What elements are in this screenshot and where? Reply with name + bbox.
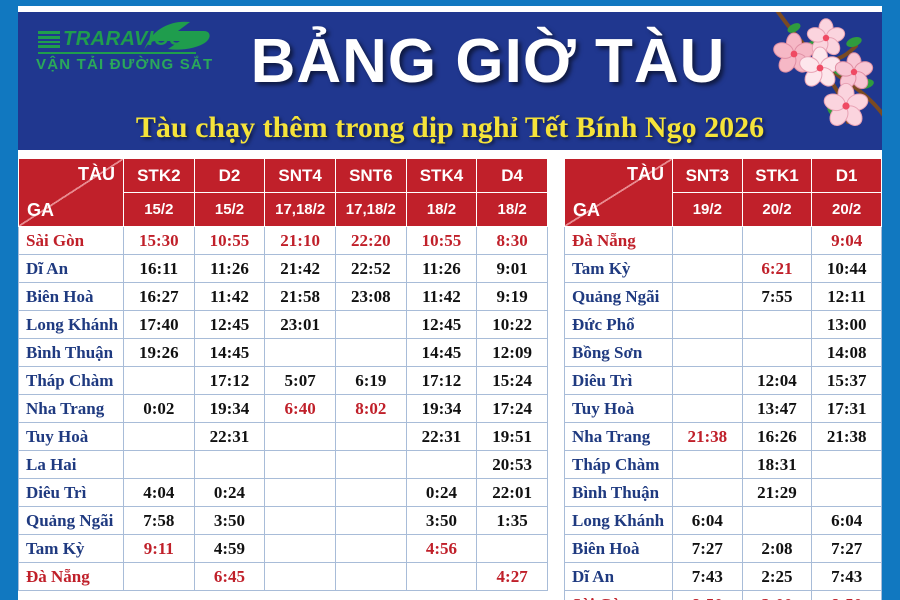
departure-time-cell — [742, 507, 812, 535]
departure-time-cell: 19:26 — [124, 339, 195, 367]
departure-time-cell — [673, 339, 743, 367]
departure-time-cell — [742, 311, 812, 339]
corner-label-train: TÀU — [627, 164, 664, 185]
departure-time-cell — [265, 423, 336, 451]
right-train-date-snt3: 19/2 — [673, 193, 743, 227]
table-row: Biên Hoà7:272:087:27 — [565, 535, 882, 563]
station-name-cell: Quảng Ngãi — [565, 283, 673, 311]
departure-time-cell: 7:58 — [124, 507, 195, 535]
departure-time-cell — [265, 479, 336, 507]
station-name-cell: Tuy Hoà — [19, 423, 124, 451]
corner-label-station: GA — [573, 200, 600, 221]
table-row: Bình Thuận19:2614:4514:4512:09 — [19, 339, 548, 367]
departure-time-cell: 0:24 — [194, 479, 265, 507]
table-row: Tháp Chàm17:125:076:1917:1215:24 — [19, 367, 548, 395]
departure-time-cell: 22:52 — [335, 255, 406, 283]
station-name-cell: Đà Nẵng — [565, 227, 673, 255]
logo-underline — [38, 52, 196, 54]
departure-time-cell — [124, 451, 195, 479]
departure-time-cell: 21:10 — [265, 227, 336, 255]
departure-time-cell: 4:59 — [194, 535, 265, 563]
table-row: Đà Nẵng9:04 — [565, 227, 882, 255]
departure-time-cell: 16:26 — [742, 423, 812, 451]
table-row: Dĩ An7:432:257:43 — [565, 563, 882, 591]
departure-time-cell — [335, 311, 406, 339]
departure-time-cell — [265, 507, 336, 535]
station-name-cell: Dĩ An — [19, 255, 124, 283]
station-name-cell: Sài Gòn — [19, 227, 124, 255]
left-train-code-stk4: STK4 — [406, 159, 477, 193]
right-header-row-trains: TÀU GA SNT3STK1D1 — [565, 159, 882, 193]
departure-time-cell: 2:25 — [742, 563, 812, 591]
departure-time-cell — [265, 451, 336, 479]
station-name-cell: Tuy Hoà — [565, 395, 673, 423]
station-name-cell: Nha Trang — [19, 395, 124, 423]
station-name-cell: Biên Hoà — [565, 535, 673, 563]
departure-time-cell: 21:38 — [812, 423, 882, 451]
station-name-cell: Đà Nẵng — [19, 563, 124, 591]
table-row: Quảng Ngãi7:5512:11 — [565, 283, 882, 311]
departure-time-cell: 7:43 — [673, 563, 743, 591]
page-subtitle: Tàu chạy thêm trong dịp nghỉ Tết Bính Ng… — [18, 110, 882, 146]
right-train-code-d1: D1 — [812, 159, 882, 193]
table-row: Diêu Trì12:0415:37 — [565, 367, 882, 395]
departure-time-cell: 7:55 — [742, 283, 812, 311]
departure-time-cell: 11:42 — [194, 283, 265, 311]
departure-time-cell: 3:00 — [742, 591, 812, 600]
right-table-head: TÀU GA SNT3STK1D1 19/220/220/2 — [565, 159, 882, 227]
departure-time-cell: 6:45 — [194, 563, 265, 591]
departure-time-cell: 17:31 — [812, 395, 882, 423]
table-row: Nha Trang21:3816:2621:38 — [565, 423, 882, 451]
departure-time-cell: 22:31 — [406, 423, 477, 451]
left-train-code-d4: D4 — [477, 159, 548, 193]
peach-blossom-decoration — [758, 12, 882, 136]
departure-time-cell — [673, 311, 743, 339]
departure-time-cell — [335, 535, 406, 563]
departure-time-cell — [124, 423, 195, 451]
corner-label-station: GA — [27, 200, 54, 221]
left-train-code-stk2: STK2 — [124, 159, 195, 193]
station-name-cell: Tháp Chàm — [19, 367, 124, 395]
departure-time-cell: 14:45 — [194, 339, 265, 367]
company-logo: TRARAVICO VẬN TẢI ĐƯỜNG SẮT — [24, 20, 204, 92]
departure-time-cell: 19:34 — [194, 395, 265, 423]
table-row: Tháp Chàm18:31 — [565, 451, 882, 479]
right-train-code-stk1: STK1 — [742, 159, 812, 193]
left-train-date-snt4: 17,18/2 — [265, 193, 336, 227]
table-row: Dĩ An16:1111:2621:4222:5211:269:01 — [19, 255, 548, 283]
departure-time-cell: 6:40 — [265, 395, 336, 423]
table-row: Tam Kỳ6:2110:44 — [565, 255, 882, 283]
departure-time-cell: 3:50 — [194, 507, 265, 535]
departure-time-cell — [335, 479, 406, 507]
departure-time-cell: 9:01 — [477, 255, 548, 283]
station-name-cell: Bình Thuận — [565, 479, 673, 507]
station-name-cell: Long Khánh — [565, 507, 673, 535]
departure-time-cell: 22:20 — [335, 227, 406, 255]
departure-time-cell: 22:01 — [477, 479, 548, 507]
departure-time-cell: 7:27 — [812, 535, 882, 563]
station-name-cell: Long Khánh — [19, 311, 124, 339]
departure-time-cell — [673, 255, 743, 283]
departure-time-cell: 12:45 — [406, 311, 477, 339]
left-train-date-stk2: 15/2 — [124, 193, 195, 227]
right-train-date-stk1: 20/2 — [742, 193, 812, 227]
table-row: Tam Kỳ9:114:594:56 — [19, 535, 548, 563]
departure-time-cell: 8:30 — [477, 227, 548, 255]
departure-time-cell — [812, 451, 882, 479]
station-name-cell: Diêu Trì — [19, 479, 124, 507]
table-row: Quảng Ngãi7:583:503:501:35 — [19, 507, 548, 535]
left-schedule-table: TÀU GA STK2D2SNT4SNT6STK4D4 15/215/217,1… — [18, 158, 548, 591]
departure-time-cell: 11:42 — [406, 283, 477, 311]
left-train-date-stk4: 18/2 — [406, 193, 477, 227]
right-schedule-table: TÀU GA SNT3STK1D1 19/220/220/2 Đà Nẵng9:… — [564, 158, 882, 600]
departure-time-cell: 10:55 — [406, 227, 477, 255]
logo-bars-icon — [38, 31, 60, 47]
departure-time-cell — [265, 563, 336, 591]
departure-time-cell: 23:08 — [335, 283, 406, 311]
departure-time-cell: 10:55 — [194, 227, 265, 255]
departure-time-cell: 14:08 — [812, 339, 882, 367]
departure-time-cell — [335, 507, 406, 535]
departure-time-cell: 4:56 — [406, 535, 477, 563]
departure-time-cell: 18:31 — [742, 451, 812, 479]
table-row: Bồng Sơn14:08 — [565, 339, 882, 367]
departure-time-cell — [265, 535, 336, 563]
departure-time-cell — [673, 451, 743, 479]
departure-time-cell: 6:21 — [742, 255, 812, 283]
page-title: BẢNG GIỜ TÀU — [208, 26, 768, 98]
station-name-cell: Sài Gòn — [565, 591, 673, 600]
departure-time-cell: 21:29 — [742, 479, 812, 507]
departure-time-cell — [194, 451, 265, 479]
station-name-cell: Biên Hoà — [19, 283, 124, 311]
table-row: Bình Thuận21:29 — [565, 479, 882, 507]
table-row: Đà Nẵng6:454:27 — [19, 563, 548, 591]
departure-time-cell — [124, 563, 195, 591]
right-train-date-d1: 20/2 — [812, 193, 882, 227]
right-table-body: Đà Nẵng9:04Tam Kỳ6:2110:44Quảng Ngãi7:55… — [565, 227, 882, 600]
table-row: Sài Gòn8:503:008:50 — [565, 591, 882, 600]
station-name-cell: Nha Trang — [565, 423, 673, 451]
departure-time-cell: 21:38 — [673, 423, 743, 451]
departure-time-cell — [335, 451, 406, 479]
station-name-cell: Tam Kỳ — [565, 255, 673, 283]
station-name-cell: Dĩ An — [565, 563, 673, 591]
departure-time-cell — [265, 339, 336, 367]
departure-time-cell: 12:04 — [742, 367, 812, 395]
station-name-cell: Đức Phổ — [565, 311, 673, 339]
left-corner-cell: TÀU GA — [19, 159, 124, 227]
logo-subtitle: VẬN TẢI ĐƯỜNG SẮT — [36, 56, 213, 73]
departure-time-cell: 20:53 — [477, 451, 548, 479]
table-row: Long Khánh17:4012:4523:0112:4510:22 — [19, 311, 548, 339]
departure-time-cell — [673, 283, 743, 311]
departure-time-cell — [406, 563, 477, 591]
departure-time-cell: 15:24 — [477, 367, 548, 395]
left-train-date-snt6: 17,18/2 — [335, 193, 406, 227]
left-train-code-snt4: SNT4 — [265, 159, 336, 193]
departure-time-cell: 8:50 — [673, 591, 743, 600]
departure-time-cell — [335, 339, 406, 367]
left-schedule-table-container: TÀU GA STK2D2SNT4SNT6STK4D4 15/215/217,1… — [18, 158, 548, 591]
departure-time-cell: 7:43 — [812, 563, 882, 591]
departure-time-cell: 11:26 — [406, 255, 477, 283]
departure-time-cell: 12:45 — [194, 311, 265, 339]
departure-time-cell: 15:37 — [812, 367, 882, 395]
departure-time-cell — [335, 563, 406, 591]
left-train-code-snt6: SNT6 — [335, 159, 406, 193]
right-schedule-table-container: TÀU GA SNT3STK1D1 19/220/220/2 Đà Nẵng9:… — [564, 158, 882, 600]
departure-time-cell: 17:24 — [477, 395, 548, 423]
departure-time-cell: 9:04 — [812, 227, 882, 255]
departure-time-cell: 17:12 — [406, 367, 477, 395]
departure-time-cell — [335, 423, 406, 451]
departure-time-cell: 17:12 — [194, 367, 265, 395]
station-name-cell: La Hai — [19, 451, 124, 479]
table-row: Diêu Trì4:040:240:2422:01 — [19, 479, 548, 507]
departure-time-cell: 9:19 — [477, 283, 548, 311]
station-name-cell: Diêu Trì — [565, 367, 673, 395]
table-row: Nha Trang0:0219:346:408:0219:3417:24 — [19, 395, 548, 423]
corner-label-train: TÀU — [78, 164, 115, 185]
departure-time-cell: 10:22 — [477, 311, 548, 339]
departure-time-cell: 0:24 — [406, 479, 477, 507]
departure-time-cell — [673, 367, 743, 395]
departure-time-cell: 7:27 — [673, 535, 743, 563]
table-row: Sài Gòn15:3010:5521:1022:2010:558:30 — [19, 227, 548, 255]
departure-time-cell: 4:27 — [477, 563, 548, 591]
departure-time-cell — [673, 395, 743, 423]
station-name-cell: Tam Kỳ — [19, 535, 124, 563]
departure-time-cell: 5:07 — [265, 367, 336, 395]
departure-time-cell — [812, 479, 882, 507]
right-train-code-snt3: SNT3 — [673, 159, 743, 193]
departure-time-cell: 21:42 — [265, 255, 336, 283]
departure-time-cell: 17:40 — [124, 311, 195, 339]
departure-time-cell: 8:50 — [812, 591, 882, 600]
departure-time-cell — [742, 339, 812, 367]
departure-time-cell: 19:34 — [406, 395, 477, 423]
departure-time-cell: 6:19 — [335, 367, 406, 395]
departure-time-cell: 14:45 — [406, 339, 477, 367]
station-name-cell: Tháp Chàm — [565, 451, 673, 479]
departure-time-cell: 6:04 — [812, 507, 882, 535]
departure-time-cell: 10:44 — [812, 255, 882, 283]
departure-time-cell — [406, 451, 477, 479]
schedule-body: TÀU GA STK2D2SNT4SNT6STK4D4 15/215/217,1… — [18, 150, 882, 600]
departure-time-cell: 13:47 — [742, 395, 812, 423]
departure-time-cell: 6:04 — [673, 507, 743, 535]
departure-time-cell: 19:51 — [477, 423, 548, 451]
poster-header: TRARAVICO VẬN TẢI ĐƯỜNG SẮT BẢNG GIỜ TÀU… — [18, 12, 882, 150]
right-corner-cell: TÀU GA — [565, 159, 673, 227]
left-table-head: TÀU GA STK2D2SNT4SNT6STK4D4 15/215/217,1… — [19, 159, 548, 227]
departure-time-cell: 13:00 — [812, 311, 882, 339]
departure-time-cell: 1:35 — [477, 507, 548, 535]
table-row: Biên Hoà16:2711:4221:5823:0811:429:19 — [19, 283, 548, 311]
table-row: Tuy Hoà13:4717:31 — [565, 395, 882, 423]
departure-time-cell: 16:11 — [124, 255, 195, 283]
departure-time-cell: 9:11 — [124, 535, 195, 563]
poster-root: TRARAVICO VẬN TẢI ĐƯỜNG SẮT BẢNG GIỜ TÀU… — [0, 0, 900, 600]
table-row: Đức Phổ13:00 — [565, 311, 882, 339]
departure-time-cell: 22:31 — [194, 423, 265, 451]
left-table-body: Sài Gòn15:3010:5521:1022:2010:558:30Dĩ A… — [19, 227, 548, 591]
station-name-cell: Bồng Sơn — [565, 339, 673, 367]
table-row: Long Khánh6:046:04 — [565, 507, 882, 535]
departure-time-cell: 12:11 — [812, 283, 882, 311]
departure-time-cell: 2:08 — [742, 535, 812, 563]
departure-time-cell — [742, 227, 812, 255]
departure-time-cell: 12:09 — [477, 339, 548, 367]
table-row: Tuy Hoà22:3122:3119:51 — [19, 423, 548, 451]
table-row: La Hai20:53 — [19, 451, 548, 479]
departure-time-cell: 21:58 — [265, 283, 336, 311]
left-train-code-d2: D2 — [194, 159, 265, 193]
departure-time-cell — [673, 227, 743, 255]
departure-time-cell: 3:50 — [406, 507, 477, 535]
departure-time-cell: 8:02 — [335, 395, 406, 423]
departure-time-cell: 15:30 — [124, 227, 195, 255]
departure-time-cell — [124, 367, 195, 395]
left-train-date-d2: 15/2 — [194, 193, 265, 227]
departure-time-cell — [477, 535, 548, 563]
departure-time-cell: 11:26 — [194, 255, 265, 283]
departure-time-cell — [673, 479, 743, 507]
departure-time-cell: 0:02 — [124, 395, 195, 423]
departure-time-cell: 16:27 — [124, 283, 195, 311]
departure-time-cell: 23:01 — [265, 311, 336, 339]
left-header-row-trains: TÀU GA STK2D2SNT4SNT6STK4D4 — [19, 159, 548, 193]
left-train-date-d4: 18/2 — [477, 193, 548, 227]
station-name-cell: Bình Thuận — [19, 339, 124, 367]
departure-time-cell: 4:04 — [124, 479, 195, 507]
station-name-cell: Quảng Ngãi — [19, 507, 124, 535]
